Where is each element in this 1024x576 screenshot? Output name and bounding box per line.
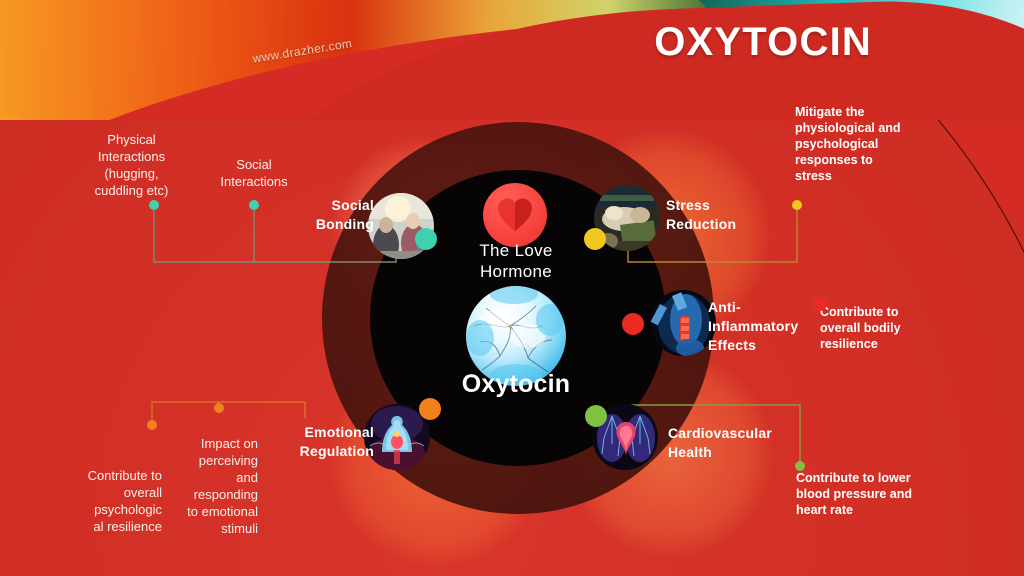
- label-social-bonding: Social Bonding: [294, 196, 374, 234]
- desc-lower-blood-pressure-line3: heart rate: [796, 502, 956, 518]
- desc-social-interactions: Social Interactions: [186, 156, 322, 190]
- label-cardiovascular-line1: Cardiovascular: [668, 424, 798, 443]
- desc-emotional-stimuli-line5: to emotional: [170, 503, 258, 520]
- label-social-bonding-line1: Social: [294, 196, 374, 215]
- label-cardiovascular: Cardiovascular Health: [668, 424, 798, 462]
- desc-bodily-resilience-line2: overall bodily: [820, 320, 960, 336]
- desc-mitigate-stress: Mitigate the physiological and psycholog…: [795, 104, 945, 184]
- desc-emotional-stimuli-line6: stimuli: [170, 520, 258, 537]
- label-anti-inflammatory-line2: Inflammatory: [708, 317, 818, 336]
- desc-physical-interactions-line2: Interactions: [74, 148, 189, 165]
- node-photo-anti-inflammatory[interactable]: [650, 290, 716, 356]
- label-emotional-regulation-line2: Regulation: [278, 442, 374, 461]
- desc-mitigate-stress-line4: responses to: [795, 152, 945, 168]
- desc-lower-blood-pressure: Contribute to lower blood pressure and h…: [796, 470, 956, 518]
- spine-xray-photo: [650, 290, 716, 356]
- desc-emotional-stimuli-line3: and: [170, 469, 258, 486]
- desc-emotional-stimuli: Impact on perceiving and responding to e…: [170, 435, 258, 537]
- dot-social-bonding[interactable]: [415, 228, 437, 250]
- dot-lower-blood-pressure[interactable]: [795, 461, 805, 471]
- center-subtitle-line2: Hormone: [400, 261, 632, 282]
- label-anti-inflammatory: Anti- Inflammatory Effects: [708, 298, 818, 355]
- desc-psychological-resilience-line4: al resilience: [62, 518, 162, 535]
- dot-cardiovascular[interactable]: [585, 405, 607, 427]
- desc-lower-blood-pressure-line2: blood pressure and: [796, 486, 956, 502]
- label-anti-inflammatory-line1: Anti-: [708, 298, 818, 317]
- dot-emotional-regulation[interactable]: [419, 398, 441, 420]
- label-social-bonding-line2: Bonding: [294, 215, 374, 234]
- dot-mitigate-stress[interactable]: [792, 200, 802, 210]
- page-title: OXYTOCIN: [654, 20, 872, 65]
- desc-social-interactions-line1: Social: [186, 156, 322, 173]
- desc-bodily-resilience: Contribute to overall bodily resilience: [820, 304, 960, 352]
- heart-icon: [483, 183, 547, 247]
- desc-emotional-stimuli-line2: perceiving: [170, 452, 258, 469]
- desc-social-interactions-line2: Interactions: [186, 173, 322, 190]
- desc-psychological-resilience-line1: Contribute to: [62, 467, 162, 484]
- desc-physical-interactions-line3: (hugging,: [74, 165, 189, 182]
- desc-mitigate-stress-line5: stress: [795, 168, 945, 184]
- dot-stress-reduction[interactable]: [584, 228, 606, 250]
- desc-physical-interactions-line1: Physical: [74, 131, 189, 148]
- heart-glyph: [495, 195, 535, 235]
- label-anti-inflammatory-line3: Effects: [708, 336, 818, 355]
- desc-bodily-resilience-line3: resilience: [820, 336, 960, 352]
- dot-physical-interactions[interactable]: [149, 200, 159, 210]
- desc-mitigate-stress-line1: Mitigate the: [795, 104, 945, 120]
- desc-mitigate-stress-line2: physiological and: [795, 120, 945, 136]
- center-main-label: Oxytocin: [400, 370, 632, 399]
- label-cardiovascular-line2: Health: [668, 443, 798, 462]
- desc-emotional-stimuli-line4: responding: [170, 486, 258, 503]
- label-stress-reduction-line2: Reduction: [666, 215, 776, 234]
- desc-bodily-resilience-line1: Contribute to: [820, 304, 960, 320]
- label-stress-reduction: Stress Reduction: [666, 196, 776, 234]
- desc-psychological-resilience: Contribute to overall psychologic al res…: [62, 467, 162, 535]
- desc-lower-blood-pressure-line1: Contribute to lower: [796, 470, 956, 486]
- label-emotional-regulation: Emotional Regulation: [278, 423, 374, 461]
- desc-physical-interactions: Physical Interactions (hugging, cuddling…: [74, 131, 189, 199]
- desc-psychological-resilience-line2: overall: [62, 484, 162, 501]
- dot-emotional-stimuli[interactable]: [214, 403, 224, 413]
- dot-psychological-resilience[interactable]: [147, 420, 157, 430]
- label-stress-reduction-line1: Stress: [666, 196, 776, 215]
- desc-emotional-stimuli-line1: Impact on: [170, 435, 258, 452]
- desc-psychological-resilience-line3: psychologic: [62, 501, 162, 518]
- dot-bodily-resilience[interactable]: [813, 297, 827, 311]
- dot-anti-inflammatory[interactable]: [622, 313, 644, 335]
- desc-mitigate-stress-line3: psychological: [795, 136, 945, 152]
- label-emotional-regulation-line1: Emotional: [278, 423, 374, 442]
- dot-social-interactions[interactable]: [249, 200, 259, 210]
- desc-physical-interactions-line4: cuddling etc): [74, 182, 189, 199]
- infographic-canvas: www.drazher.com OXYTOCIN The Love Hormon…: [0, 0, 1024, 576]
